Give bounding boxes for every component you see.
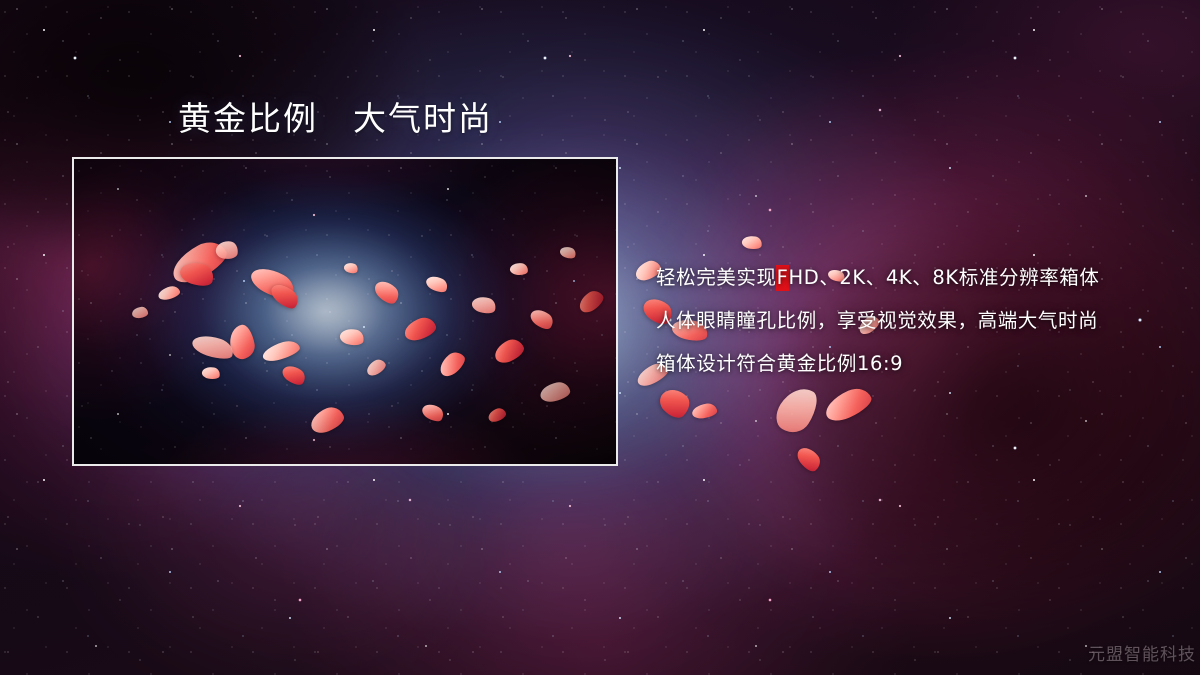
preview-image-content (74, 159, 616, 464)
preview-image-frame[interactable] (72, 157, 618, 466)
slide-title: 黄金比例 大气时尚 (178, 98, 493, 139)
body-line-2: 人体眼睛瞳孔比例，享受视觉效果，高端大气时尚 (656, 299, 1176, 342)
company-watermark: 元盟智能科技 (1088, 640, 1196, 665)
body-text-block: 轻松完美实现FHD、2K、4K、8K标准分辨率箱体 人体眼睛瞳孔比例，享受视觉效… (656, 256, 1176, 385)
presentation-slide: 黄金比例 大气时尚 轻松完美实现FHD、2K、4K、8K标准分辨率箱体 人体眼睛… (0, 0, 1200, 675)
body-line-3: 箱体设计符合黄金比例16:9 (656, 342, 1176, 385)
preview-nebula-core (215, 226, 464, 403)
body-line-1-prefix: 轻松完美实现 (656, 266, 777, 289)
body-line-1-suffix: HD、2K、4K、8K标准分辨率箱体 (788, 266, 1099, 289)
highlighted-character: F (777, 265, 789, 291)
body-line-1: 轻松完美实现FHD、2K、4K、8K标准分辨率箱体 (656, 256, 1176, 299)
